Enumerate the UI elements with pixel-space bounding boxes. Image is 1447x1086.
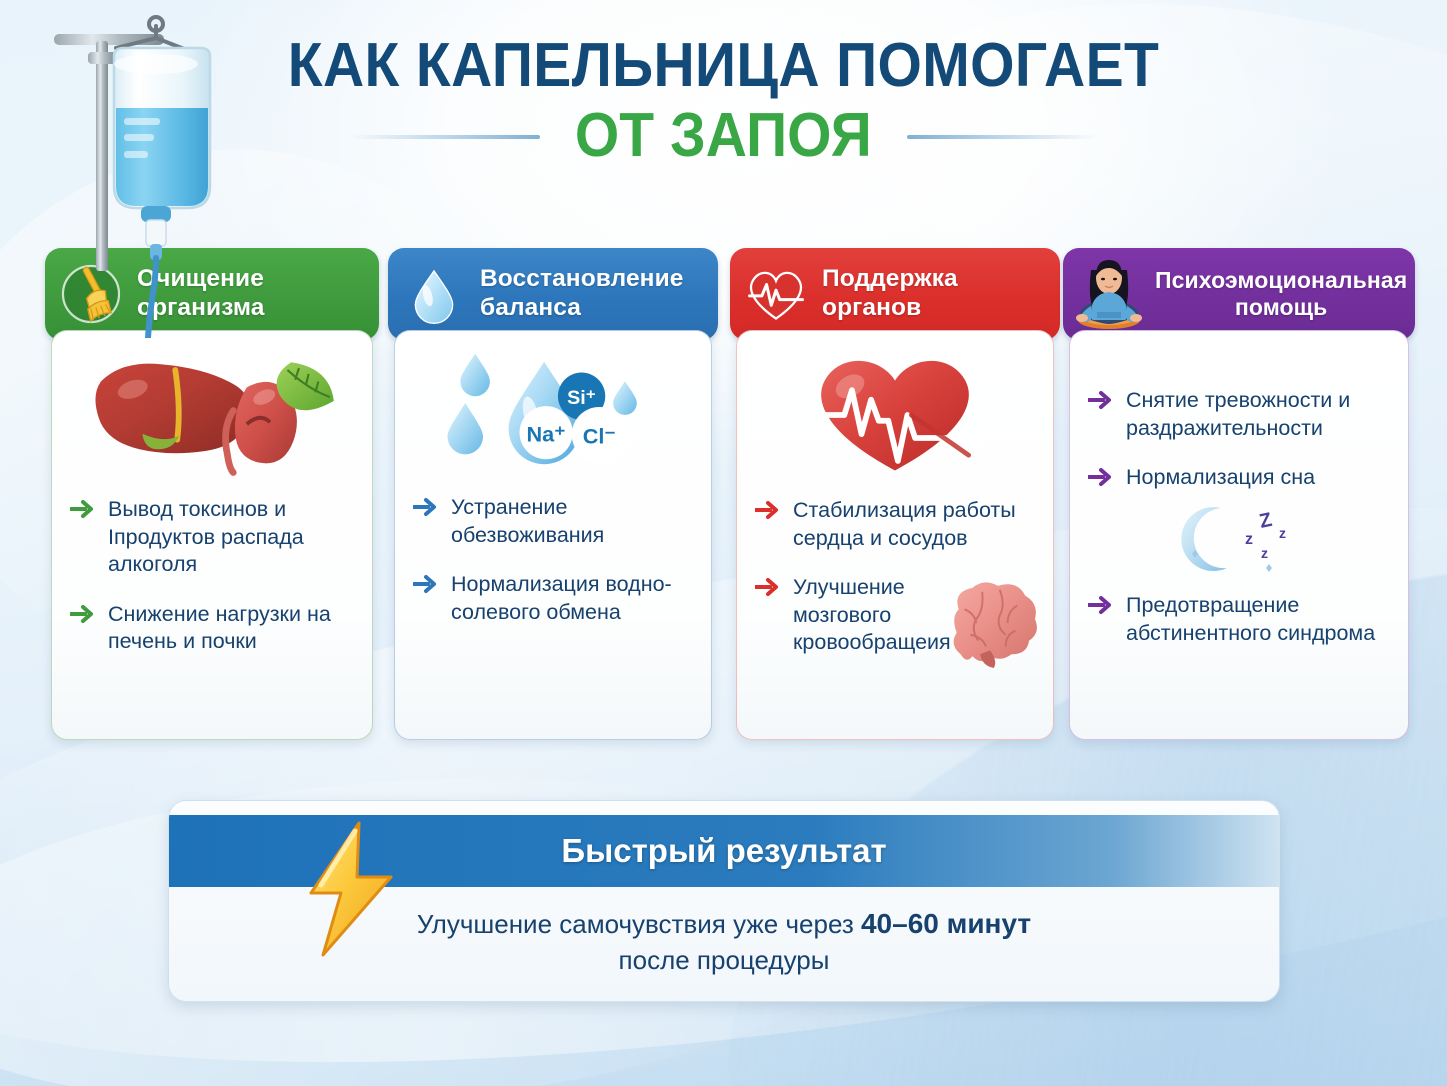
- brain-icon: [935, 580, 1043, 673]
- list-item-label: Устранение обезвоживания: [451, 494, 695, 549]
- meditating-woman-icon: [1063, 248, 1155, 340]
- arrow-right-icon: [413, 497, 439, 522]
- title-rule-left: [350, 135, 540, 139]
- arrow-right-icon: [70, 604, 96, 629]
- arrow-right-icon: [1088, 390, 1114, 415]
- water-drop-icon: [388, 248, 480, 340]
- arrow-right-icon: [1088, 467, 1114, 492]
- svg-text:Z: Z: [1257, 509, 1274, 533]
- card-header-line-1: Поддержка: [822, 265, 958, 294]
- card-body: Вывод токсинов и Iпродуктов распада алко…: [51, 330, 373, 740]
- liver-kidney-leaf-illustration: [52, 343, 372, 483]
- title-line-2: ОТ ЗАПОЯ: [575, 104, 872, 168]
- bullet-list: Устранение обезвоживания Нормализация во…: [395, 494, 711, 648]
- arrow-right-icon: [755, 500, 781, 525]
- list-item-label: Снятие тревожности и раздражительности: [1126, 387, 1392, 442]
- list-item: Улучшение мозгового кровообращеия: [755, 574, 1037, 657]
- list-item-label: Стабилизация работы сердца и сосудов: [793, 497, 1037, 552]
- title-line-1: КАК КАПЕЛЬНИЦА ПОМОГАЕТ: [58, 34, 1389, 98]
- arrow-right-icon: [1088, 595, 1114, 620]
- svg-text:z: z: [1245, 531, 1253, 548]
- card-header-title: Поддержка органов: [822, 265, 970, 323]
- bullet-list: Вывод токсинов и Iпродуктов распада алко…: [52, 496, 372, 678]
- card-header: Восстановление баланса: [388, 248, 718, 340]
- card-header-line-1: Восстановление: [480, 265, 683, 294]
- arrow-right-icon: [755, 577, 781, 602]
- page-title: КАК КАПЕЛЬНИЦА ПОМОГАЕТ ОТ ЗАПОЯ: [0, 34, 1447, 169]
- card-body: Si⁺ Na⁺ Cl⁻ Устранение обезвоживания Нор…: [394, 330, 712, 740]
- banner-subtext-prefix: Улучшение самочувствия уже через: [417, 909, 861, 939]
- list-item-label: Снижение нагрузки на печень и почки: [108, 601, 356, 656]
- list-item: Снятие тревожности и раздражительности: [1088, 387, 1392, 442]
- fast-result-banner[interactable]: Быстрый результат Улучшение самочувствия…: [168, 800, 1280, 1002]
- list-item: Вывод токсинов и Iпродуктов распада алко…: [70, 496, 356, 579]
- heart-pulse-icon: [730, 248, 822, 340]
- card-body: Стабилизация работы сердца и сосудов Улу…: [736, 330, 1054, 740]
- svg-text:z: z: [1261, 545, 1268, 561]
- svg-text:z: z: [1279, 525, 1286, 541]
- card-header-title: Психоэмоциональная помощь: [1155, 267, 1415, 321]
- list-item-label: Предотвращение абстинентного синдрома: [1126, 592, 1392, 647]
- list-item-label: Нормализация сна: [1126, 464, 1315, 492]
- arrow-right-icon: [413, 574, 439, 599]
- svg-text:Si⁺: Si⁺: [567, 387, 596, 409]
- svg-text:Cl⁻: Cl⁻: [583, 424, 616, 449]
- title-rule-right: [907, 135, 1097, 139]
- svg-text:Na⁺: Na⁺: [527, 422, 566, 447]
- list-item: Предотвращение абстинентного синдрома: [1088, 592, 1392, 647]
- card-header-line-2: баланса: [480, 294, 683, 323]
- list-item: Стабилизация работы сердца и сосудов: [755, 497, 1037, 552]
- list-item: Устранение обезвоживания: [413, 494, 695, 549]
- list-item-label: Вывод токсинов и Iпродуктов распада алко…: [108, 496, 356, 579]
- lightning-bolt-icon: [295, 819, 405, 959]
- banner-subtext-highlight: 40–60 минут: [861, 908, 1031, 939]
- list-item-label: Нормализация водно-солевого обмена: [451, 571, 695, 626]
- bullet-list: Снятие тревожности и раздражительности Н…: [1070, 387, 1408, 669]
- electrolyte-droplets-illustration: Si⁺ Na⁺ Cl⁻: [395, 341, 711, 481]
- bullet-list: Стабилизация работы сердца и сосудов Улу…: [737, 497, 1053, 679]
- heart-heartbeat-illustration: [737, 345, 1053, 485]
- card-header-line-2: помощь: [1155, 294, 1407, 321]
- list-item: Нормализация водно-солевого обмена: [413, 571, 695, 626]
- list-item: Снижение нагрузки на печень и почки: [70, 601, 356, 656]
- banner-title: Быстрый результат: [561, 832, 886, 870]
- card-balance[interactable]: Восстановление баланса: [388, 248, 718, 740]
- card-header: Психоэмоциональная помощь: [1063, 248, 1415, 340]
- card-header-title: Восстановление баланса: [480, 265, 695, 323]
- arrow-right-icon: [70, 499, 96, 524]
- sleeping-moon-illustration: Z z z z: [1088, 498, 1392, 578]
- card-header-line-1: Психоэмоциональная: [1155, 267, 1407, 294]
- card-psychoemotional[interactable]: Психоэмоциональная помощь Снятие тревожн…: [1063, 248, 1415, 740]
- card-header-line-2: органов: [822, 294, 958, 323]
- card-body: Снятие тревожности и раздражительности Н…: [1069, 330, 1409, 740]
- card-organs[interactable]: Поддержка органов Стабилизация раб: [730, 248, 1060, 740]
- title-line-2-row: ОТ ЗАПОЯ: [0, 104, 1447, 168]
- card-header: Поддержка органов: [730, 248, 1060, 340]
- list-item: Нормализация сна: [1088, 464, 1392, 492]
